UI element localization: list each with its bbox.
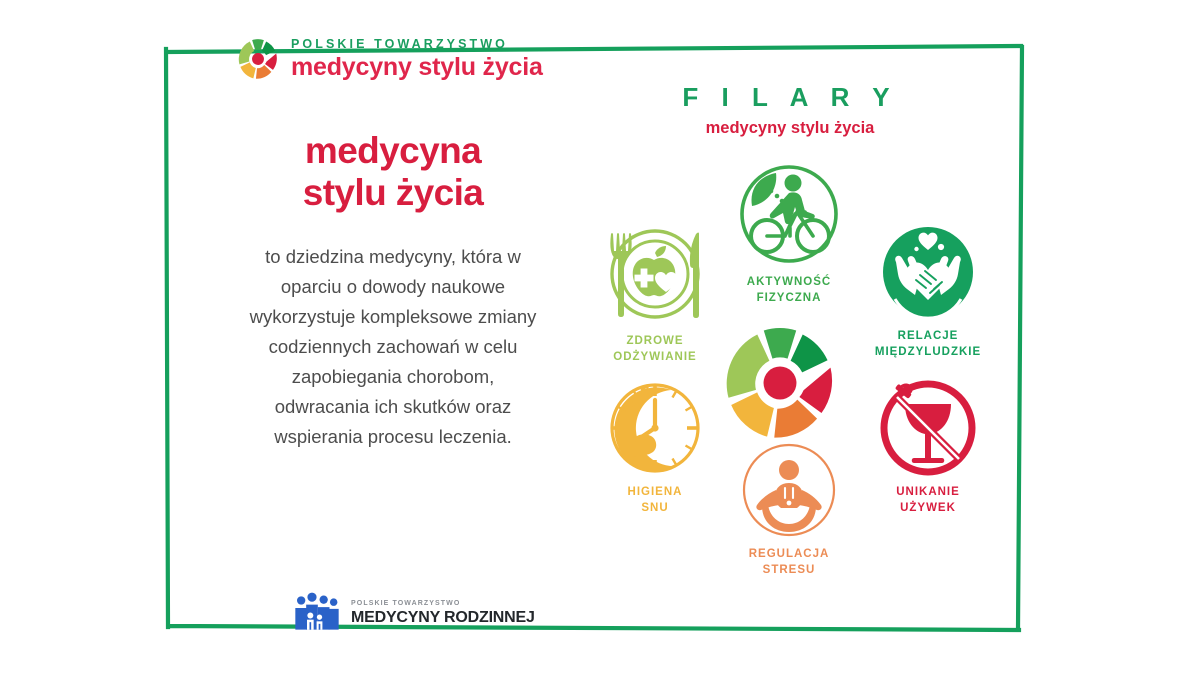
pillar-zdrowe-odzywianie[interactable]: ZDROWE ODŻYWIANIE — [585, 222, 725, 365]
header-logo-line1: POLSKIE TOWARZYSTWO — [291, 38, 543, 51]
clock-moon-zzz-icon: Z Z z — [605, 378, 705, 478]
page-title: medycynastylu życia — [243, 130, 543, 214]
page-title-line2: stylu życia — [303, 172, 484, 213]
pillars-subtitle: medycyny stylu życia — [645, 119, 935, 138]
pillar-label: HIGIENA SNU — [585, 485, 725, 516]
plate-fork-knife-apple-heart-icon — [599, 222, 711, 327]
pillar-label: ZDROWE ODŻYWIANIE — [585, 334, 725, 365]
pillar-label: REGULACJA STRESU — [718, 547, 860, 578]
intro-column: medycynastylu życia to dziedzina medycyn… — [243, 130, 543, 452]
footer-logo-line1: POLSKIE TOWARZYSTWO — [351, 600, 535, 607]
header-logo: POLSKIE TOWARZYSTWO medycyny stylu życia — [236, 37, 543, 81]
no-alcohol-cigarette-icon — [878, 378, 978, 478]
lifestyle-wheel-icon — [236, 37, 280, 81]
pillar-aktywnosc-fizyczna[interactable]: AKTYWNOŚĆ FIZYCZNA — [718, 160, 860, 306]
footer-logo-line2: MEDYCYNY RODZINNEJ — [351, 610, 535, 626]
header-logo-line2: medycyny stylu życia — [291, 55, 543, 80]
footer-logo: POLSKIE TOWARZYSTWO MEDYCYNY RODZINNEJ — [292, 592, 535, 634]
meditation-figure-icon — [739, 440, 839, 540]
pillar-label: UNIKANIE UŻYWEK — [853, 485, 1003, 516]
pillars-heading: F I L A R Y medycyny stylu życia — [645, 82, 935, 138]
family-group-icon — [292, 592, 342, 634]
pillar-label: AKTYWNOŚĆ FIZYCZNA — [718, 275, 860, 306]
page-title-line1: medycyna — [305, 130, 481, 171]
pillar-label: RELACJE MIĘDZYLUDZKIE — [853, 329, 1003, 360]
pillar-regulacja-stresu[interactable]: REGULACJA STRESU — [718, 440, 860, 578]
cyclist-icon — [735, 160, 843, 268]
intro-paragraph: to dziedzina medycyny, która w oparciu o… — [243, 242, 543, 452]
pillar-higiena-snu[interactable]: Z Z z HIGIENA SNU — [585, 378, 725, 516]
pillar-unikanie-uzywek[interactable]: UNIKANIE UŻYWEK — [853, 378, 1003, 516]
slide-canvas: POLSKIE TOWARZYSTWO medycyny stylu życia… — [0, 0, 1200, 675]
handshake-heart-hands-icon — [878, 222, 978, 322]
pillar-relacje-miedzyludzkie[interactable]: RELACJE MIĘDZYLUDZKIE — [853, 222, 1003, 360]
pillars-title: F I L A R Y — [645, 82, 935, 113]
lifestyle-wheel-icon — [715, 322, 845, 444]
